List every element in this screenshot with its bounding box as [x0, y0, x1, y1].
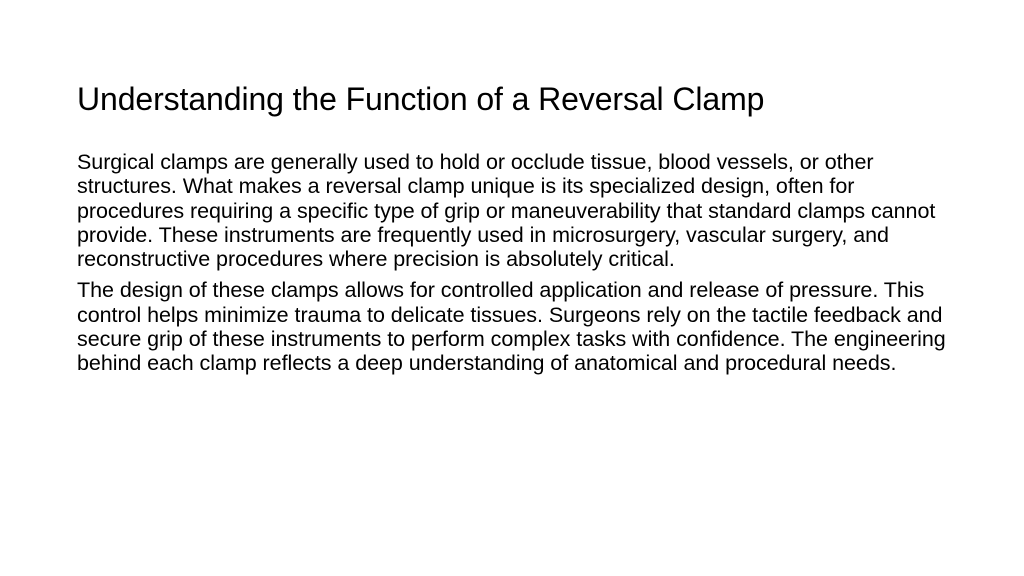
body-paragraph-2: The design of these clamps allows for co… — [77, 278, 949, 375]
page-title: Understanding the Function of a Reversal… — [77, 79, 967, 119]
slide-canvas: Understanding the Function of a Reversal… — [0, 0, 1024, 576]
slide-body-content: Surgical clamps are generally used to ho… — [77, 150, 949, 376]
body-paragraph-1: Surgical clamps are generally used to ho… — [77, 150, 949, 271]
